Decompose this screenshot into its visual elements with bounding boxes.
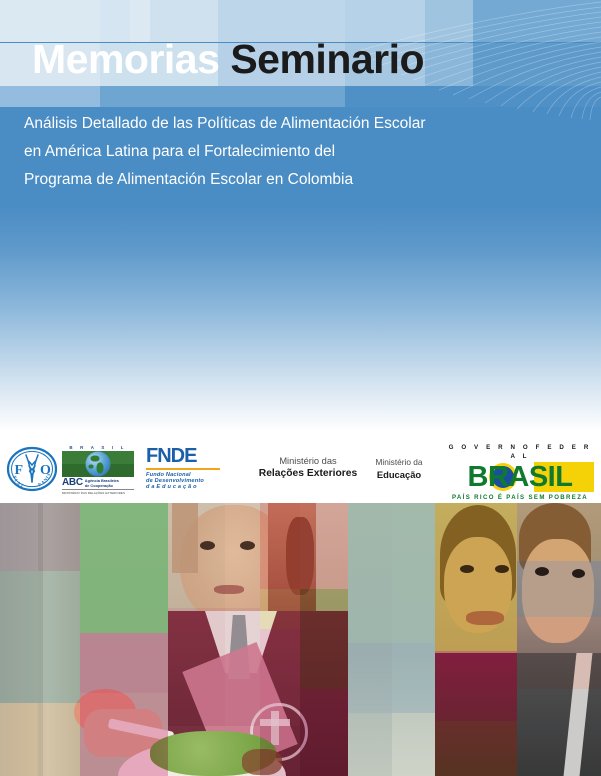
min-rel-line-1: Ministério das bbox=[248, 455, 368, 467]
fao-logo: F O F I A T P A N I bbox=[6, 446, 58, 492]
cover-title: Memorias Seminario bbox=[32, 39, 424, 80]
fnde-acronym: FNDE bbox=[146, 446, 222, 467]
overlay-tile bbox=[300, 503, 348, 589]
overlay-tile bbox=[225, 503, 260, 608]
overlay-tile bbox=[517, 561, 601, 617]
overlay-tile bbox=[517, 617, 601, 689]
brasil-tagline: PAÍS RICO É PAÍS SEM POBREZA bbox=[446, 492, 594, 503]
overlay-tile bbox=[0, 703, 38, 776]
title-part-one: Memorias bbox=[32, 36, 219, 82]
ministerio-relacoes-exteriores-logo: Ministério das Relações Exteriores bbox=[248, 455, 368, 480]
subtitle-line-1: Análisis Detallado de las Políticas de A… bbox=[24, 110, 544, 138]
overlay-tile bbox=[435, 651, 517, 721]
cover-header: Memorias Seminario Análisis Detallado de… bbox=[0, 0, 601, 435]
min-edu-line-1: Ministério da bbox=[356, 456, 442, 468]
cover-subtitle: Análisis Detallado de las Políticas de A… bbox=[24, 110, 544, 194]
overlay-tile bbox=[225, 726, 260, 776]
overlay-tile bbox=[168, 503, 225, 608]
overlay-tile bbox=[168, 608, 225, 726]
logo-strip: F O F I A T P A N I bbox=[0, 435, 601, 503]
title-part-two: Seminario bbox=[230, 36, 424, 82]
overlay-tile bbox=[517, 689, 601, 776]
min-rel-line-2: Relações Exteriores bbox=[248, 467, 368, 480]
min-edu-line-2: Educação bbox=[356, 468, 442, 481]
fnde-logo: FNDE Fundo Nacional de Desenvolvimento d… bbox=[146, 446, 222, 490]
brasil-wordmark: BRASIL bbox=[446, 462, 594, 492]
overlay-tile bbox=[0, 571, 38, 703]
overlay-tile bbox=[0, 503, 38, 571]
subtitle-line-2: en América Latina para el Fortalecimient… bbox=[24, 138, 544, 166]
governo-federal-brasil-logo: G O V E R N O F E D E R A L BRASIL PAÍS … bbox=[446, 443, 594, 503]
abc-line-2: de Cooperação bbox=[85, 484, 119, 488]
fnde-rule bbox=[146, 468, 220, 470]
abc-country-label: B R A S I L bbox=[62, 444, 134, 451]
overlay-tile bbox=[38, 571, 80, 703]
fnde-line-3: d a E d u c a ç ã o bbox=[146, 484, 222, 490]
document-cover: Memorias Seminario Análisis Detallado de… bbox=[0, 0, 601, 776]
overlay-tile bbox=[300, 589, 348, 689]
overlay-tile bbox=[348, 503, 392, 643]
overlay-tile bbox=[80, 503, 168, 633]
header-band-low bbox=[0, 86, 601, 107]
overlay-tile bbox=[38, 503, 80, 571]
overlay-tile bbox=[260, 503, 300, 589]
overlay-tile bbox=[260, 726, 300, 776]
overlay-tile bbox=[260, 629, 300, 726]
overlay-tile bbox=[392, 643, 435, 713]
abc-globe-icon bbox=[62, 451, 134, 477]
abc-acronym: ABC bbox=[62, 478, 83, 488]
abc-logo: B R A S I L ABC Agência Brasileira de Co… bbox=[62, 444, 134, 492]
overlay-tile bbox=[260, 589, 300, 629]
overlay-tile bbox=[435, 721, 517, 776]
overlay-tile bbox=[80, 693, 168, 776]
governo-federal-label: G O V E R N O F E D E R A L bbox=[446, 443, 594, 461]
overlay-tile bbox=[348, 643, 392, 713]
overlay-tile bbox=[435, 503, 517, 651]
abc-ministry-label: MINISTÉRIO DAS RELAÇÕES EXTERIORES bbox=[62, 489, 134, 495]
overlay-tile bbox=[225, 608, 260, 726]
overlay-tile bbox=[80, 633, 168, 693]
overlay-tile bbox=[392, 503, 435, 643]
overlay-tile bbox=[517, 503, 601, 561]
overlay-tile bbox=[168, 726, 225, 776]
ministerio-educacao-logo: Ministério da Educação bbox=[356, 456, 442, 481]
cover-photo-collage bbox=[0, 503, 601, 776]
subtitle-line-3: Programa de Alimentación Escolar en Colo… bbox=[24, 166, 544, 194]
overlay-tile bbox=[300, 689, 348, 776]
overlay-tile bbox=[348, 713, 392, 776]
overlay-tile bbox=[392, 713, 435, 776]
brasil-word: BRASIL bbox=[446, 462, 594, 492]
overlay-tile bbox=[38, 703, 80, 776]
